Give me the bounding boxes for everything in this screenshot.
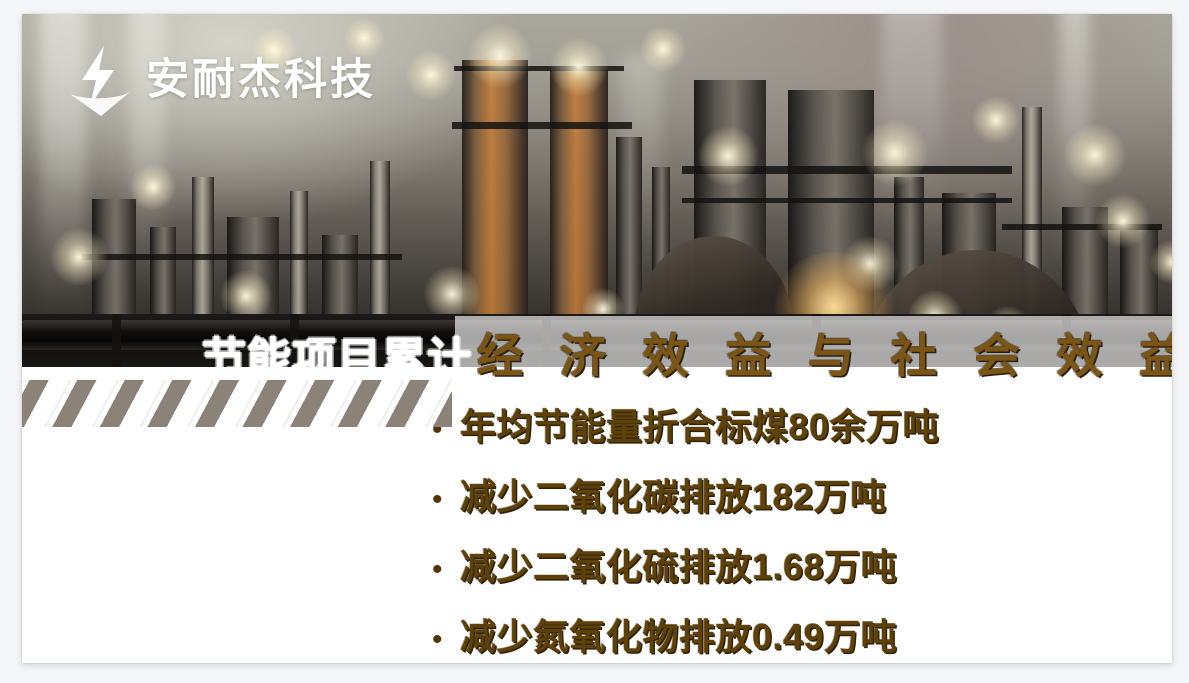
- slide-canvas: 安耐杰科技 节能项目累计 经 济 效 益 与 社 会 效 益 并 举 • 年均节…: [0, 0, 1189, 683]
- bullet-text: 减少氮氧化物排放0.49万吨: [460, 608, 897, 660]
- list-item: • 减少二氧化碳排放182万吨: [432, 468, 887, 520]
- bullet-marker: •: [432, 555, 460, 585]
- bullet-marker: •: [432, 625, 460, 655]
- presentation-slide: 安耐杰科技 节能项目累计 经 济 效 益 与 社 会 效 益 并 举 • 年均节…: [22, 14, 1172, 663]
- slide-title: 经 济 效 益 与 社 会 效 益 并 举: [477, 320, 1172, 386]
- refinery-night-photo: 安耐杰科技 节能项目累计: [22, 14, 1172, 367]
- lightning-bolt-swoosh-icon: [70, 44, 132, 116]
- catwalk: [454, 66, 624, 71]
- catwalk: [682, 198, 1012, 203]
- bullet-text: 减少二氧化碳排放182万吨: [460, 468, 887, 520]
- list-item: • 年均节能量折合标煤80余万吨: [432, 398, 939, 450]
- bullet-marker: •: [432, 485, 460, 515]
- diagonal-stripe-decoration: [22, 380, 452, 427]
- list-item: • 减少二氧化硫排放1.68万吨: [432, 538, 897, 590]
- company-name-label: 安耐杰科技: [146, 59, 376, 102]
- bullet-text: 减少二氧化硫排放1.68万吨: [460, 538, 897, 590]
- list-item: • 减少氮氧化物排放0.49万吨: [432, 608, 897, 660]
- bullet-text: 年均节能量折合标煤80余万吨: [460, 398, 939, 450]
- bullet-list: • 年均节能量折合标煤80余万吨 • 减少二氧化碳排放182万吨 • 减少二氧化…: [22, 386, 1172, 663]
- distillation-column: [462, 60, 528, 356]
- catwalk: [1002, 224, 1162, 230]
- pipe-support: [112, 314, 121, 367]
- kicker-heading: 节能项目累计: [202, 323, 472, 367]
- catwalk: [452, 122, 632, 129]
- brand-logo[interactable]: 安耐杰科技: [70, 44, 376, 116]
- catwalk: [682, 166, 1012, 174]
- catwalk: [82, 254, 402, 260]
